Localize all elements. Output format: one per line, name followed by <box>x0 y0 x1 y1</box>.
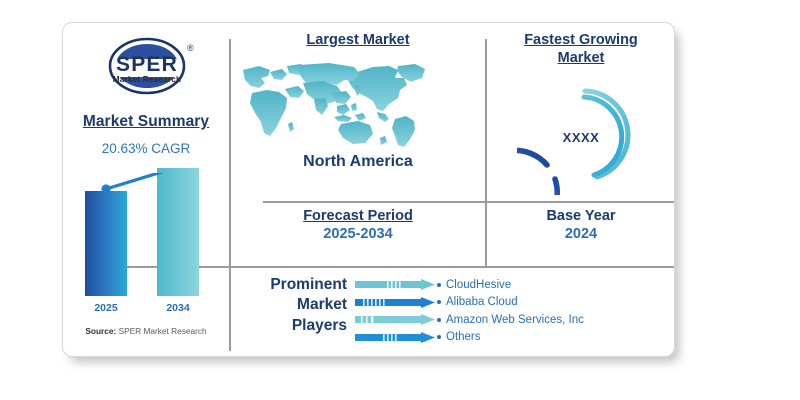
forecast-period-cell: Forecast Period 2025-2034 <box>231 208 485 242</box>
fastest-growing-title: Fastest Growing Market <box>487 31 675 67</box>
sper-logo: SPER Market Research ® <box>91 37 203 95</box>
base-year-cell: Base Year 2024 <box>487 208 675 242</box>
list-item: CloudHesive <box>355 276 673 294</box>
largest-market-title: Largest Market <box>231 31 485 49</box>
bar-2025 <box>85 191 127 296</box>
players-title-line1: Prominent <box>231 275 347 295</box>
player-name: Amazon Web Services, Inc <box>446 314 584 326</box>
player-arrow-icon <box>355 332 435 343</box>
fastest-growing-value: XXXX <box>517 79 645 195</box>
source-note: Source: SPER Market Research <box>63 326 229 336</box>
player-name: CloudHesive <box>446 279 511 291</box>
list-item: Amazon Web Services, Inc <box>355 311 673 329</box>
prominent-market-players-cell: Prominent Market Players <box>231 273 675 353</box>
market-summary-card: SPER Market Research ® Market Summary 20… <box>62 22 675 357</box>
source-prefix: Source: <box>85 326 116 336</box>
player-name: Alibaba Cloud <box>446 296 518 308</box>
bar-label-2025: 2025 <box>85 302 127 314</box>
base-year-value: 2024 <box>487 226 675 242</box>
list-item: Others <box>355 329 673 347</box>
circular-ring-icon: XXXX <box>517 79 645 195</box>
player-name: Others <box>446 331 481 343</box>
player-arrow-icon <box>355 314 435 325</box>
market-size-bar-chart: 2025 2034 <box>63 173 229 318</box>
players-title-line3: Players <box>231 316 347 336</box>
fastest-growing-market-cell: Fastest Growing Market <box>487 31 675 201</box>
svg-text:SPER: SPER <box>116 53 178 76</box>
market-summary-title: Market Summary <box>63 113 229 131</box>
cagr-value: 20.63% CAGR <box>63 141 229 156</box>
base-year-title: Base Year <box>487 208 675 224</box>
players-list: CloudHesive Alib <box>355 276 673 346</box>
bullet-dot <box>437 318 441 322</box>
svg-text:Market Research: Market Research <box>113 75 182 84</box>
largest-market-cell: Largest Market <box>231 31 485 201</box>
players-title-line2: Market <box>231 295 347 315</box>
svg-text:®: ® <box>187 43 194 53</box>
source-text: SPER Market Research <box>119 326 207 336</box>
bar-2034 <box>157 168 199 296</box>
players-title: Prominent Market Players <box>231 275 347 336</box>
forecast-period-value: 2025-2034 <box>231 226 485 242</box>
left-summary-panel: SPER Market Research ® Market Summary 20… <box>63 23 229 357</box>
fastest-growing-title-line2: Market <box>487 49 675 67</box>
bullet-dot <box>437 283 441 287</box>
world-map-icon <box>239 63 477 149</box>
largest-market-value: North America <box>231 153 485 171</box>
player-arrow-icon <box>355 279 435 290</box>
list-item: Alibaba Cloud <box>355 294 673 312</box>
fastest-growing-title-line1: Fastest Growing <box>487 31 675 49</box>
divider-horizontal-top <box>263 201 675 203</box>
player-arrow-icon <box>355 297 435 308</box>
bullet-dot <box>437 335 441 339</box>
bullet-dot <box>437 300 441 304</box>
forecast-period-title: Forecast Period <box>231 208 485 224</box>
infographic-canvas: SPER Market Research ® Market Summary 20… <box>0 0 800 400</box>
bar-label-2034: 2034 <box>157 302 199 314</box>
